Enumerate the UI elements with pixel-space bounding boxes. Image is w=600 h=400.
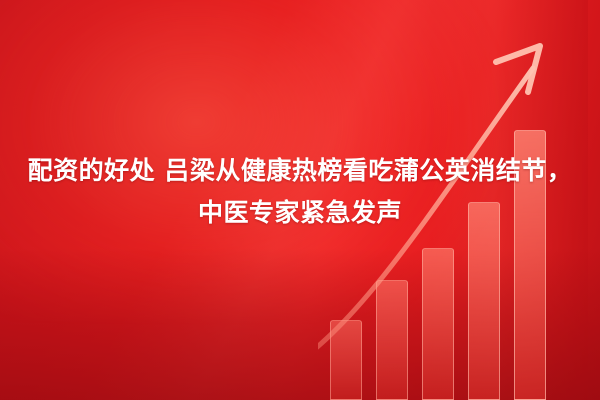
chart-bar-2 <box>376 280 408 400</box>
headline-text: 配资的好处 吕梁从健康热榜看吃蒲公英消结节， 中医专家紧急发声 <box>16 150 584 234</box>
chart-bar-3 <box>422 248 454 400</box>
headline-prefix: 配资的好处 <box>28 156 156 185</box>
headline-line2: 中医专家紧急发声 <box>16 192 584 234</box>
chart-bar-1 <box>330 320 362 400</box>
screenshot-root: 配资的好处 吕梁从健康热榜看吃蒲公英消结节， 中医专家紧急发声 <box>0 0 600 400</box>
headline-line1-rest: 吕梁从健康热榜看吃蒲公英消结节， <box>155 156 572 185</box>
